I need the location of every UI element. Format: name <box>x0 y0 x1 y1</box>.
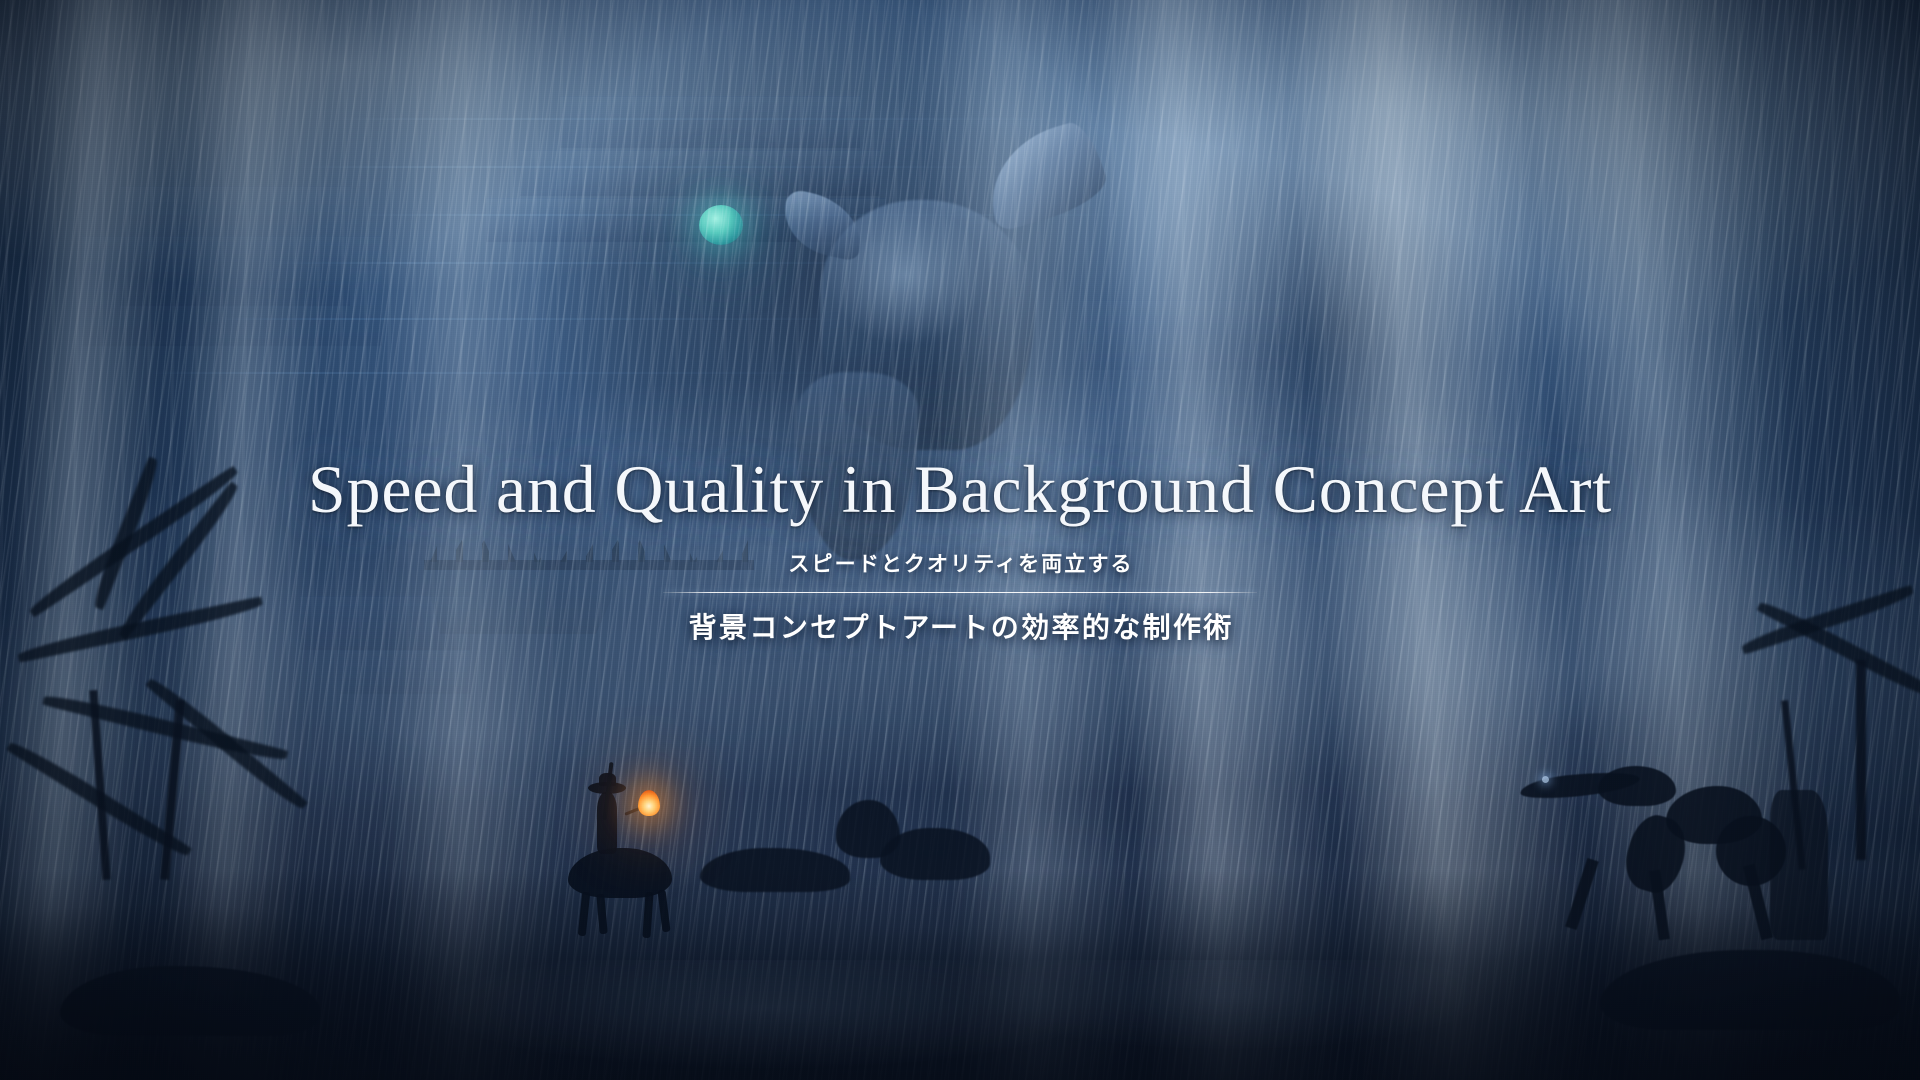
title-divider <box>663 592 1257 593</box>
page-title: Speed and Quality in Background Concept … <box>0 455 1920 523</box>
subtitle-block: スピードとクオリティを両立する 背景コンセプトアートの効率的な制作術 <box>0 548 1920 646</box>
hero-banner: Speed and Quality in Background Concept … <box>0 0 1920 1080</box>
hero-text-overlay: Speed and Quality in Background Concept … <box>0 0 1920 1080</box>
subtitle-tagline: スピードとクオリティを両立する <box>786 548 1133 578</box>
subtitle-headline: 背景コンセプトアートの効率的な制作術 <box>686 606 1234 646</box>
